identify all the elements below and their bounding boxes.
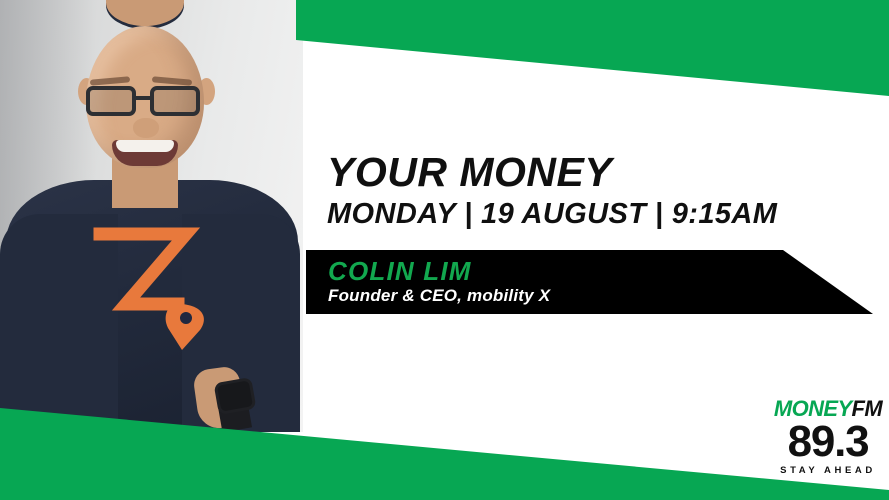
nose xyxy=(133,118,159,138)
mouth xyxy=(112,140,178,166)
show-title: YOUR MONEY xyxy=(327,152,777,193)
station-logo: MONEYFM 89.3 STAY AHEAD xyxy=(772,398,884,476)
guest-name: COLIN LIM xyxy=(328,256,472,287)
show-schedule: MONDAY | 19 AUGUST | 9:15AM xyxy=(327,200,777,229)
teeth xyxy=(116,140,174,152)
z-pin-logo-icon xyxy=(82,226,224,354)
station-logo-frequency: 89.3 xyxy=(772,421,884,463)
watch-icon xyxy=(214,377,257,415)
guest-role: Founder & CEO, mobility X xyxy=(328,286,550,306)
glasses-lens-left xyxy=(86,86,136,116)
guest-banner: COLIN LIM Founder & CEO, mobility X xyxy=(306,250,876,314)
station-logo-tagline: STAY AHEAD xyxy=(772,466,884,476)
glasses-icon xyxy=(84,86,206,116)
guest-portrait xyxy=(0,0,303,432)
promo-graphic: YOUR MONEY MONDAY | 19 AUGUST | 9:15AM C… xyxy=(0,0,889,500)
collar xyxy=(106,0,184,26)
show-title-block: YOUR MONEY MONDAY | 19 AUGUST | 9:15AM xyxy=(327,152,777,229)
glasses-lens-right xyxy=(150,86,200,116)
